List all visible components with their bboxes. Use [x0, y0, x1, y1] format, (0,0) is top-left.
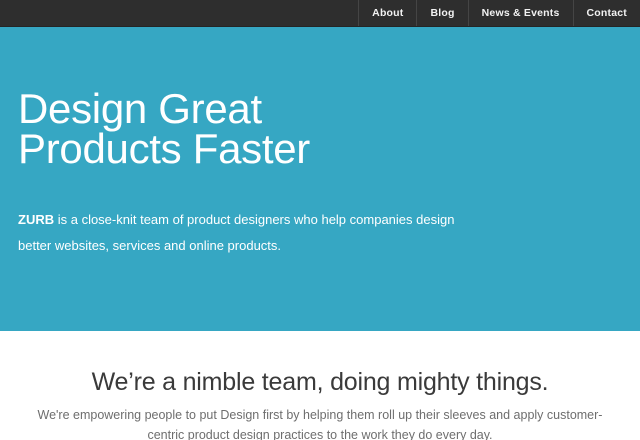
nav-item-about-label: About: [372, 7, 403, 19]
intro-subtext: We're empowering people to put Design fi…: [30, 405, 610, 440]
hero-section: Design Great Products Faster ZURB is a c…: [0, 27, 640, 331]
intro-heading: We’re a nimble team, doing mighty things…: [0, 367, 640, 397]
nav-item-blog-label: Blog: [430, 7, 454, 19]
nav-item-news-events[interactable]: News & Events: [468, 0, 573, 26]
intro-section: We’re a nimble team, doing mighty things…: [0, 331, 640, 440]
nav-item-about[interactable]: About: [358, 0, 416, 26]
nav-list: About Blog News & Events Contact: [358, 0, 640, 26]
page-root: About Blog News & Events Contact Design …: [0, 0, 640, 440]
hero-headline: Design Great Products Faster: [18, 89, 310, 169]
nav-item-blog[interactable]: Blog: [416, 0, 467, 26]
hero-description-text: is a close-knit team of product designer…: [18, 212, 454, 253]
top-navigation-bar: About Blog News & Events Contact: [0, 0, 640, 27]
nav-item-contact[interactable]: Contact: [573, 0, 640, 26]
hero-brand-name: ZURB: [18, 212, 54, 227]
nav-item-news-events-label: News & Events: [482, 7, 560, 19]
hero-description: ZURB is a close-knit team of product des…: [18, 207, 468, 259]
nav-item-contact-label: Contact: [587, 7, 627, 19]
